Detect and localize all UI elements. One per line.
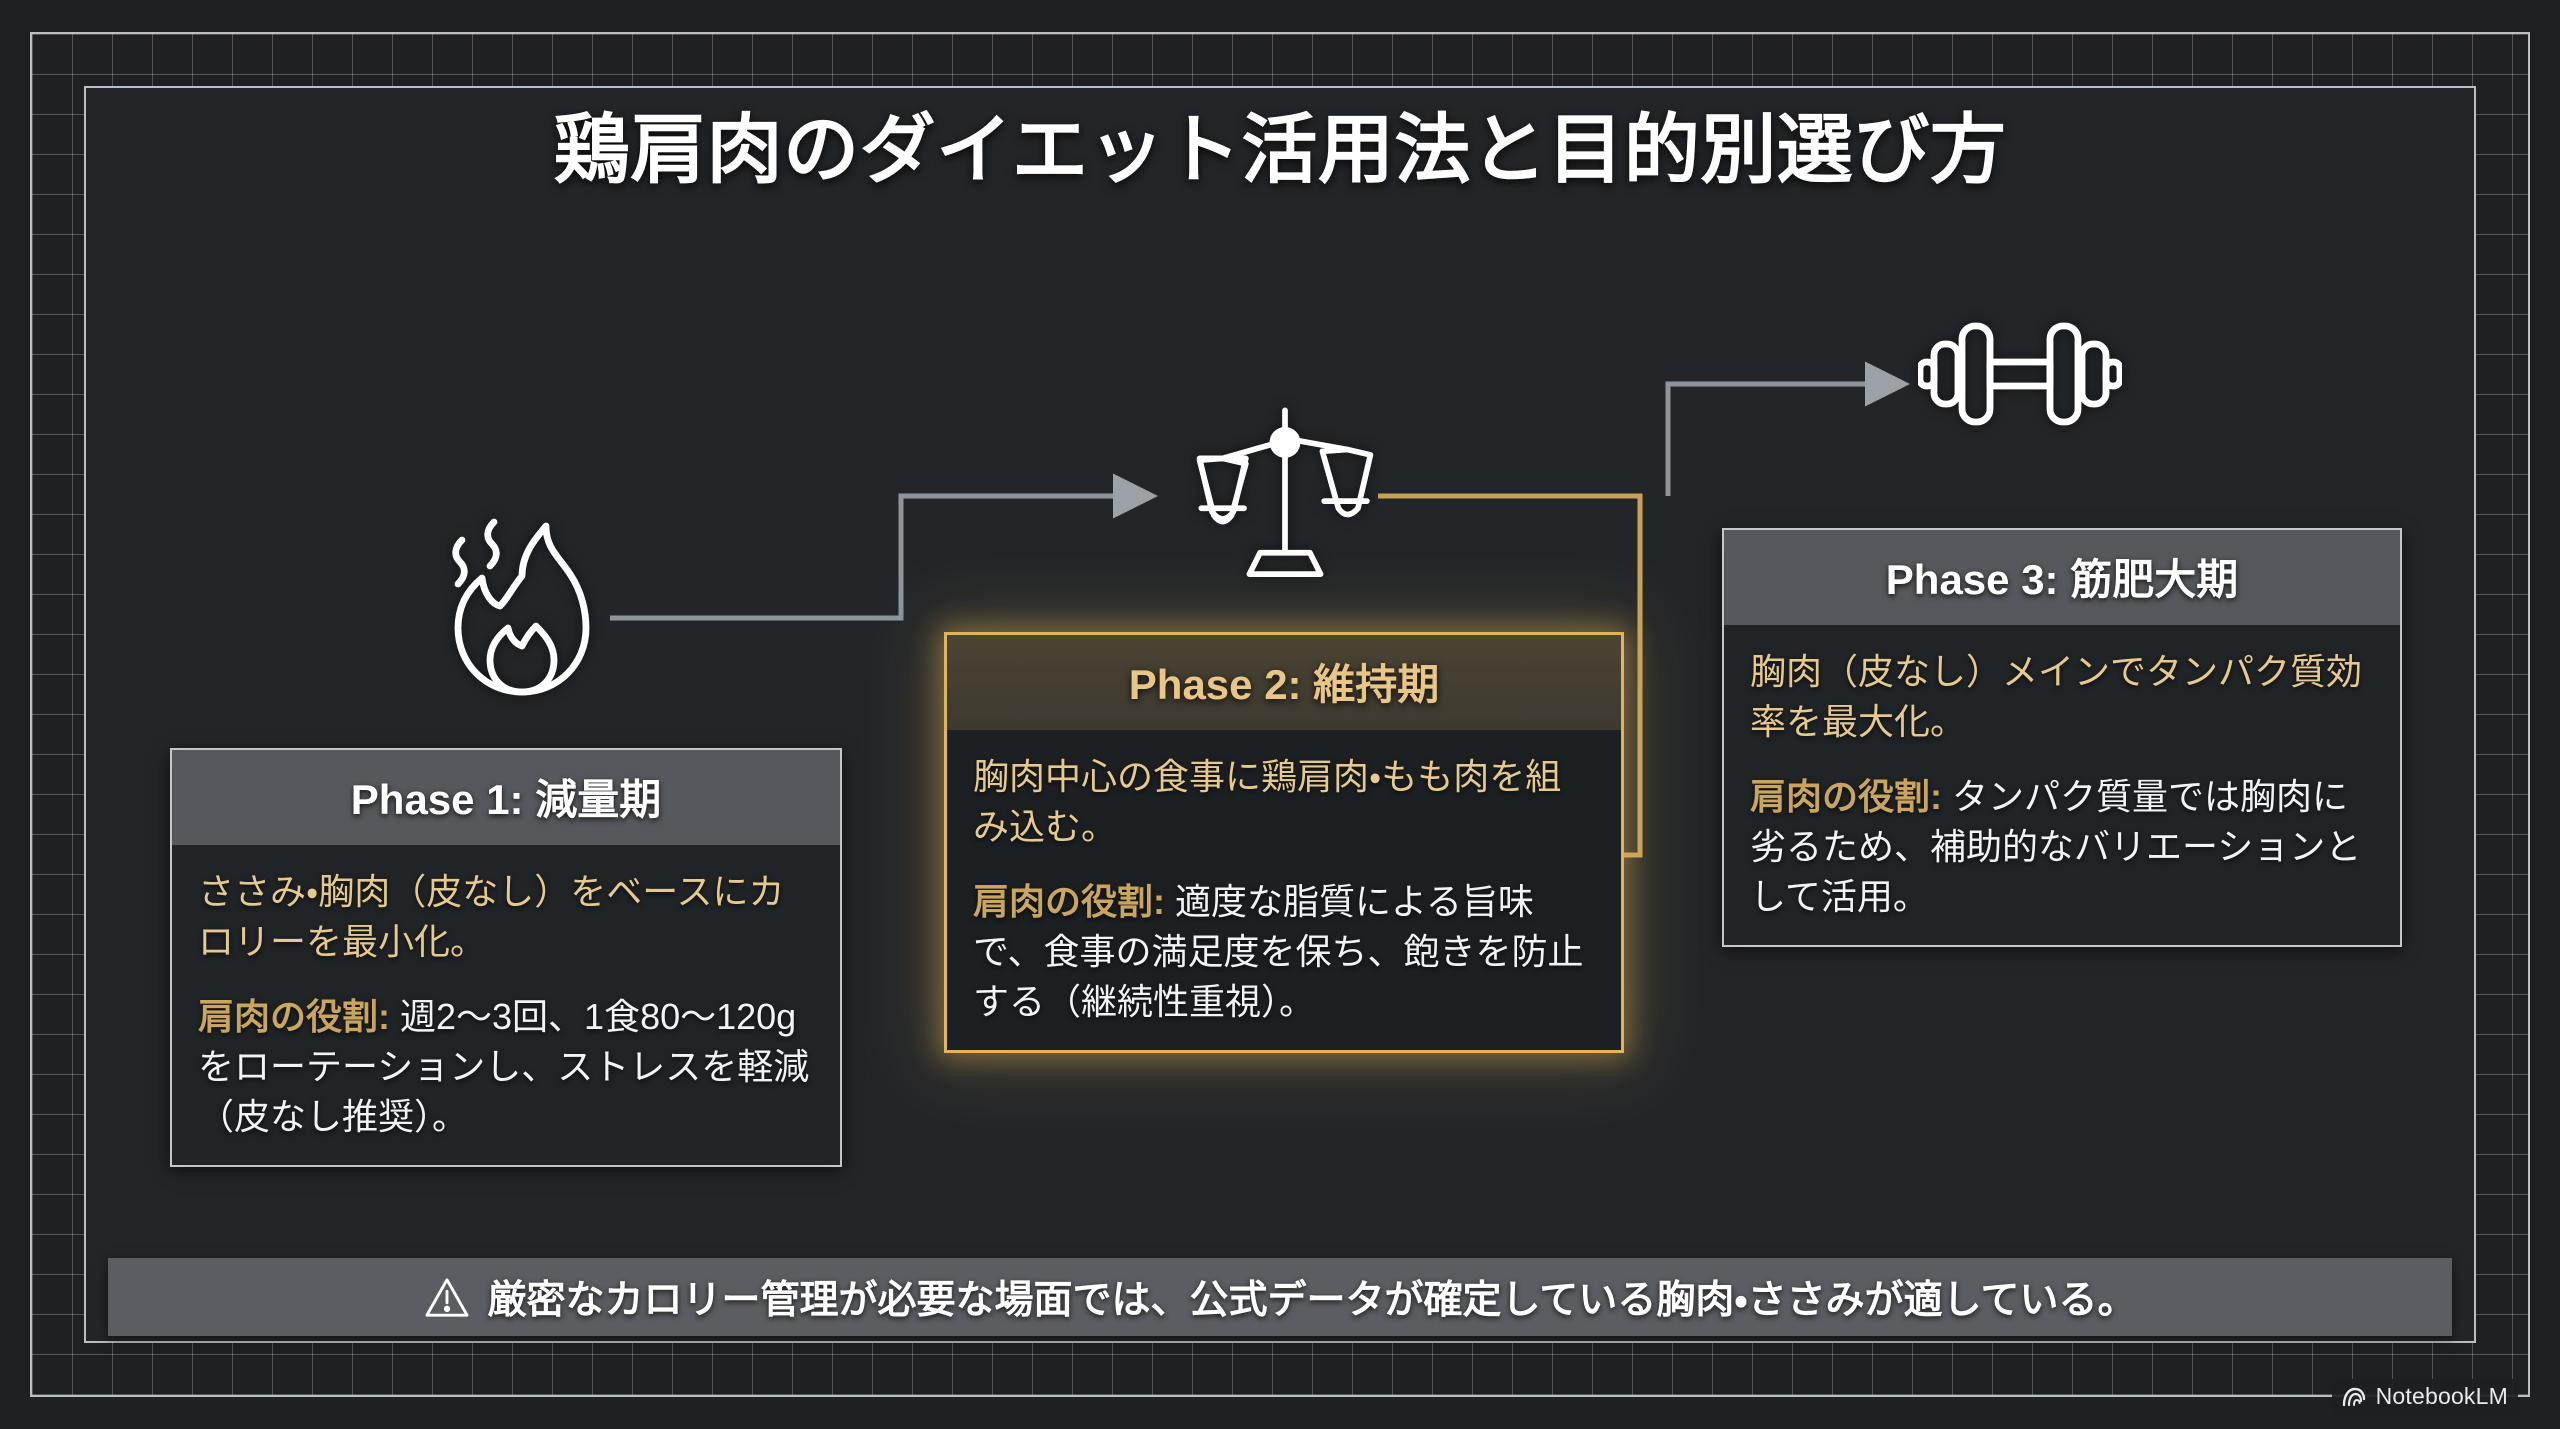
watermark-label: NotebookLM — [2376, 1383, 2508, 1410]
warning-triangle-icon — [424, 1276, 470, 1318]
flame-icon — [430, 512, 610, 722]
card-phase3-text-1: 胸肉（皮なし）メインでタンパク質効率を最大化。 — [1750, 651, 2362, 742]
card-phase2-paragraph-1: 胸肉中心の食事に鶏肩肉・もも肉を組み込む。 — [973, 752, 1595, 851]
card-phase3-role-label: 肩肉の役割: — [1750, 776, 1942, 817]
card-phase1-role-label: 肩肉の役割: — [198, 996, 390, 1037]
dumbbell-icon — [1918, 318, 2122, 430]
card-phase3-paragraph-1: 胸肉（皮なし）メインでタンパク質効率を最大化。 — [1750, 647, 2374, 746]
card-phase2-title: Phase 2: 維持期 — [947, 635, 1621, 730]
card-phase1-title: Phase 1: 減量期 — [172, 750, 840, 845]
warning-banner: 厳密なカロリー管理が必要な場面では、公式データが確定している胸肉・ささみが適して… — [108, 1258, 2452, 1336]
notebooklm-watermark: NotebookLM — [2332, 1379, 2518, 1415]
card-phase3-body: 胸肉（皮なし）メインでタンパク質効率を最大化。 肩肉の役割: タンパク質量では胸… — [1724, 625, 2400, 945]
notebooklm-logo-icon — [2342, 1386, 2366, 1408]
card-phase2[interactable]: Phase 2: 維持期 胸肉中心の食事に鶏肩肉・もも肉を組み込む。 肩肉の役割… — [944, 632, 1624, 1053]
card-phase2-role-label: 肩肉の役割: — [973, 881, 1165, 922]
page-title: 鶏肩肉のダイエット活用法と目的別選び方 — [0, 88, 2560, 198]
card-phase3[interactable]: Phase 3: 筋肥大期 胸肉（皮なし）メインでタンパク質効率を最大化。 肩肉… — [1722, 528, 2402, 947]
card-phase1-text-1: ささみ・胸肉（皮なし）をベースにカロリーを最小化。 — [198, 871, 784, 962]
warning-text: 厳密なカロリー管理が必要な場面では、公式データが確定している胸肉・ささみが適して… — [488, 1269, 2137, 1325]
card-phase3-paragraph-2: 肩肉の役割: タンパク質量では胸肉に劣るため、補助的なバリエーションとして活用。 — [1750, 772, 2374, 921]
card-phase2-paragraph-2: 肩肉の役割: 適度な脂質による旨味で、食事の満足度を保ち、飽きを防止する（継続性… — [973, 877, 1595, 1026]
card-phase2-body: 胸肉中心の食事に鶏肩肉・もも肉を組み込む。 肩肉の役割: 適度な脂質による旨味で… — [947, 730, 1621, 1050]
card-phase3-title: Phase 3: 筋肥大期 — [1724, 530, 2400, 625]
card-phase1-body: ささみ・胸肉（皮なし）をベースにカロリーを最小化。 肩肉の役割: 週2〜3回、1… — [172, 845, 840, 1165]
slide-canvas: 鶏肩肉のダイエット活用法と目的別選び方 — [0, 0, 2560, 1429]
card-phase2-text-1: 胸肉中心の食事に鶏肩肉・もも肉を組み込む。 — [973, 756, 1561, 847]
card-phase1[interactable]: Phase 1: 減量期 ささみ・胸肉（皮なし）をベースにカロリーを最小化。 肩… — [170, 748, 842, 1167]
balance-scale-icon — [1196, 405, 1374, 583]
card-phase1-paragraph-1: ささみ・胸肉（皮なし）をベースにカロリーを最小化。 — [198, 867, 814, 966]
card-phase1-paragraph-2: 肩肉の役割: 週2〜3回、1食80〜120gをローテーションし、ストレスを軽減（… — [198, 992, 814, 1141]
